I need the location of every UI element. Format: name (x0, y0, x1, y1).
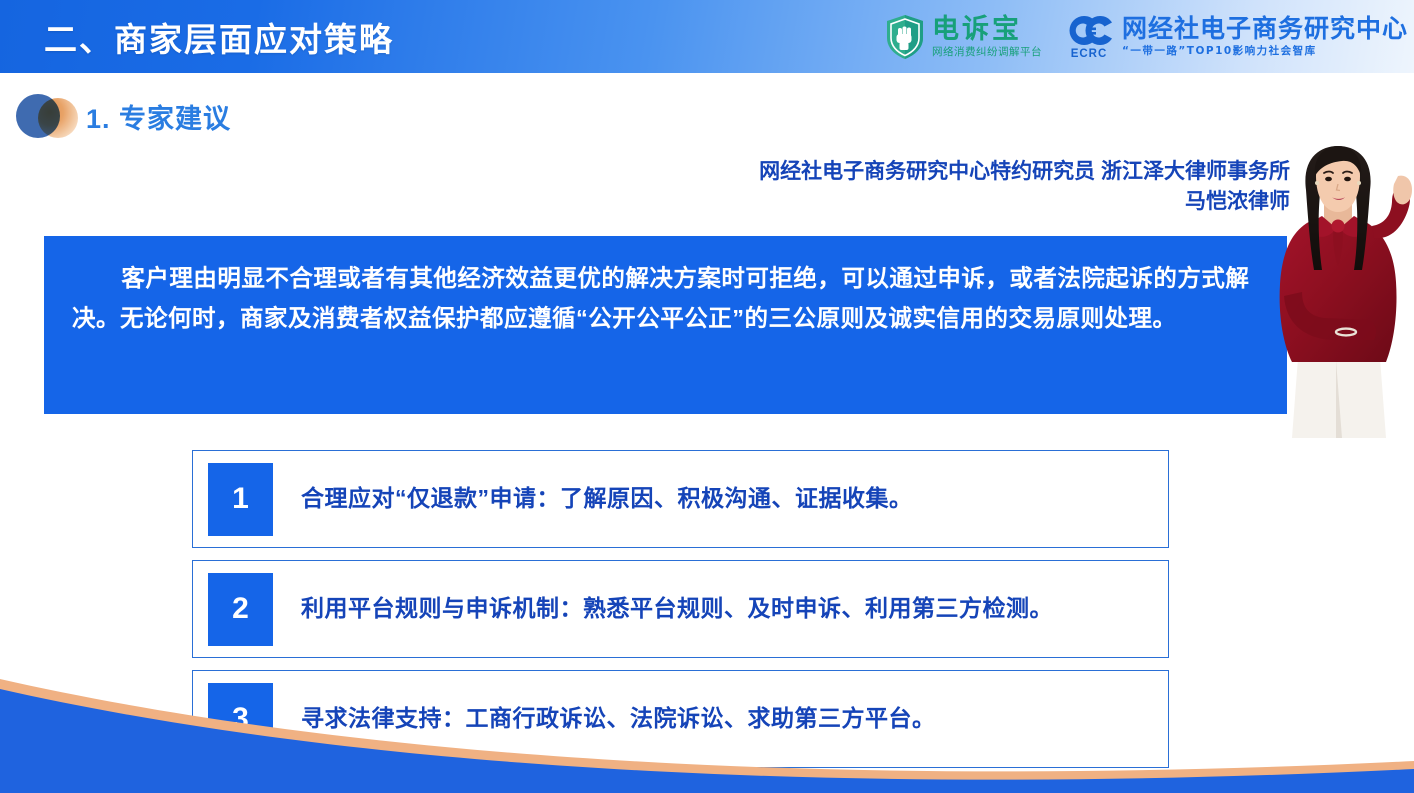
logo-ecrc-text: 网经社电子商务研究中心 “一带一路”TOP10影响力社会智库 (1122, 16, 1408, 57)
advice-card[interactable]: 3 寻求法律支持：工商行政诉讼、法院诉讼、求助第三方平台。 (192, 670, 1169, 768)
slide-root: 二、商家层面应对策略 (0, 0, 1414, 793)
page-title: 二、商家层面应对策略 (44, 13, 394, 61)
logo-diansubao-tagline: 网络消费纠纷调解平台 (932, 47, 1042, 58)
expert-portrait-photo (1262, 146, 1414, 438)
shield-fist-icon (885, 14, 925, 60)
expert-name: 马恺浓律师 (670, 187, 1290, 217)
logo-ecrc-abbr: ECRC (1071, 48, 1108, 60)
advice-card-number: 3 (208, 683, 273, 756)
advice-card[interactable]: 1 合理应对“仅退款”申请：了解原因、积极沟通、证据收集。 (192, 450, 1169, 548)
section-title: 1. 专家建议 (86, 97, 231, 136)
advice-card[interactable]: 2 利用平台规则与申诉机制：熟悉平台规则、及时申诉、利用第三方检测。 (192, 560, 1169, 658)
slide-header: 二、商家层面应对策略 (0, 0, 1414, 73)
expert-quote-text: 客户理由明显不合理或者有其他经济效益更优的解决方案时可拒绝，可以通过申诉，或者法… (72, 258, 1261, 339)
advice-card-text: 利用平台规则与申诉机制：熟悉平台规则、及时申诉、利用第三方检测。 (301, 594, 1053, 624)
logo-diansubao-text: 电诉宝 网络消费纠纷调解平台 (932, 16, 1042, 58)
logo-ecrc-tagline: “一带一路”TOP10影响力社会智库 (1122, 46, 1408, 57)
advice-card-number: 1 (208, 463, 273, 536)
logo-diansubao-name: 电诉宝 (932, 16, 1042, 43)
logo-ecrc: ECRC 网经社电子商务研究中心 “一带一路”TOP10影响力社会智库 (1064, 14, 1408, 60)
section-heading: 1. 专家建议 (0, 90, 231, 142)
advice-card-text: 合理应对“仅退款”申请：了解原因、积极沟通、证据收集。 (301, 484, 913, 514)
advice-card-text: 寻求法律支持：工商行政诉讼、法院诉讼、求助第三方平台。 (301, 704, 936, 734)
advice-card-number: 2 (208, 573, 273, 646)
venn-circles-icon (8, 90, 80, 142)
advice-card-list: 1 合理应对“仅退款”申请：了解原因、积极沟通、证据收集。 2 利用平台规则与申… (192, 450, 1169, 780)
venn-circle-orange (38, 98, 78, 138)
expert-attribution: 网经社电子商务研究中心特约研究员 浙江泽大律师事务所 马恺浓律师 (670, 157, 1290, 218)
header-logo-group: 电诉宝 网络消费纠纷调解平台 ECRC 网经社电子商务研究中心 (885, 14, 1408, 60)
logo-ecrc-name: 网经社电子商务研究中心 (1122, 16, 1408, 41)
expert-quote-box: 客户理由明显不合理或者有其他经济效益更优的解决方案时可拒绝，可以通过申诉，或者法… (44, 236, 1287, 414)
logo-diansubao: 电诉宝 网络消费纠纷调解平台 (885, 14, 1042, 60)
ec-monogram-icon: ECRC (1064, 14, 1114, 60)
expert-affiliation: 网经社电子商务研究中心特约研究员 浙江泽大律师事务所 (670, 157, 1290, 187)
